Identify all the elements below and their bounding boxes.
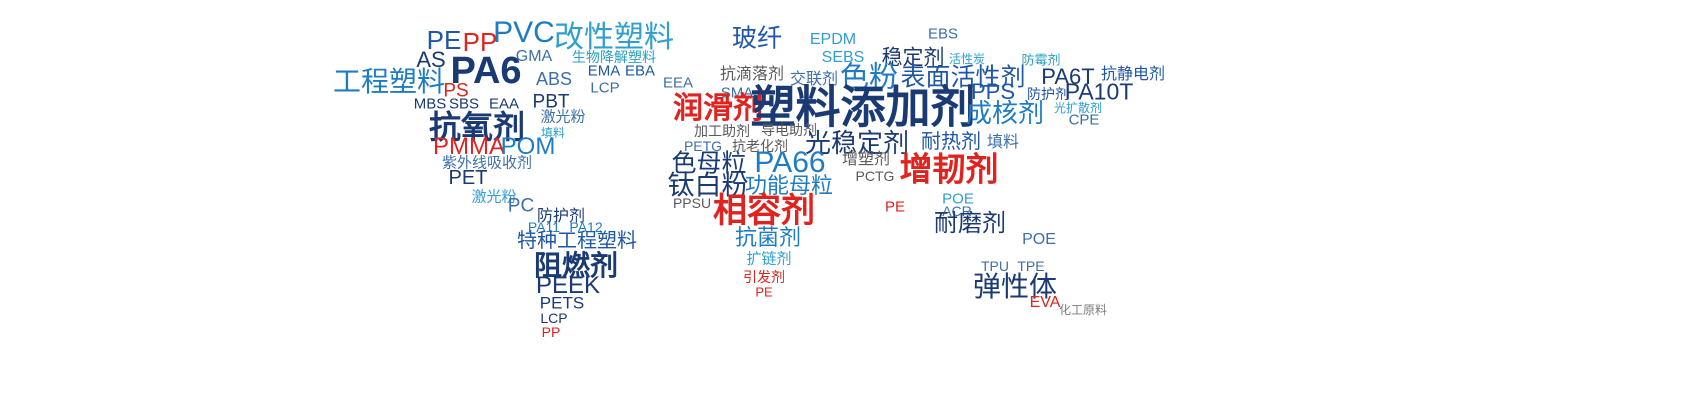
word-cloud-term[interactable]: PETS [540, 295, 584, 312]
word-cloud-term[interactable]: PPS [971, 81, 1015, 103]
word-cloud-term[interactable]: POE [1022, 232, 1056, 248]
word-cloud-term[interactable]: PCTG [856, 169, 895, 183]
word-cloud-term[interactable]: PP [542, 325, 561, 339]
word-cloud-term[interactable]: 抗菌剂 [735, 227, 801, 249]
word-cloud-term[interactable]: 相容剂 [713, 194, 815, 228]
word-cloud-term[interactable]: 耐热剂 [921, 132, 981, 152]
word-cloud-term[interactable]: 扩链剂 [746, 252, 791, 267]
word-cloud-term[interactable]: 激光粉 [540, 110, 585, 125]
word-cloud-term[interactable]: 增塑剂 [842, 152, 890, 168]
word-cloud-term[interactable]: PC [508, 197, 534, 216]
word-cloud-term[interactable]: EPDM [810, 32, 856, 48]
word-cloud-term[interactable]: LCP [540, 311, 567, 325]
word-cloud-term[interactable]: EBA [625, 64, 655, 79]
word-cloud-term[interactable]: 玻纤 [732, 27, 782, 52]
word-cloud-term[interactable]: EVA [1030, 295, 1061, 311]
word-cloud-term[interactable]: PE [885, 200, 905, 215]
word-cloud-term[interactable]: 填料 [987, 135, 1019, 151]
word-cloud-canvas: PEPPPVCGMA改性塑料玻纤EPDMEBSASPA6生物降解塑料SEBS稳定… [0, 0, 1707, 400]
word-cloud-term[interactable]: 增韧剂 [900, 153, 999, 186]
word-cloud-term[interactable]: 引发剂 [743, 270, 785, 284]
word-cloud-term[interactable]: EMA [588, 64, 621, 79]
word-cloud-term[interactable]: LCP [590, 81, 619, 96]
word-cloud-term[interactable]: ABS [536, 70, 572, 88]
word-cloud-term[interactable]: 化工原料 [1059, 304, 1107, 316]
word-cloud-term[interactable]: 防护剂 [1027, 87, 1069, 101]
word-cloud-term[interactable]: EBS [928, 27, 958, 42]
word-cloud-term[interactable]: CPE [1069, 113, 1100, 128]
word-cloud-term[interactable]: PVC [493, 18, 555, 48]
word-cloud-term[interactable]: 工程塑料 [333, 68, 445, 96]
word-cloud-term[interactable]: PPSU [673, 196, 711, 210]
word-cloud-term[interactable]: 特种工程塑料 [517, 231, 637, 251]
word-cloud-term[interactable]: 加工助剂 [694, 124, 750, 138]
word-cloud-term[interactable]: PET [449, 168, 488, 188]
word-cloud-term[interactable]: EEA [663, 76, 693, 91]
word-cloud-term[interactable]: PE [755, 286, 772, 299]
word-cloud-term[interactable]: 耐磨剂 [934, 212, 1006, 236]
